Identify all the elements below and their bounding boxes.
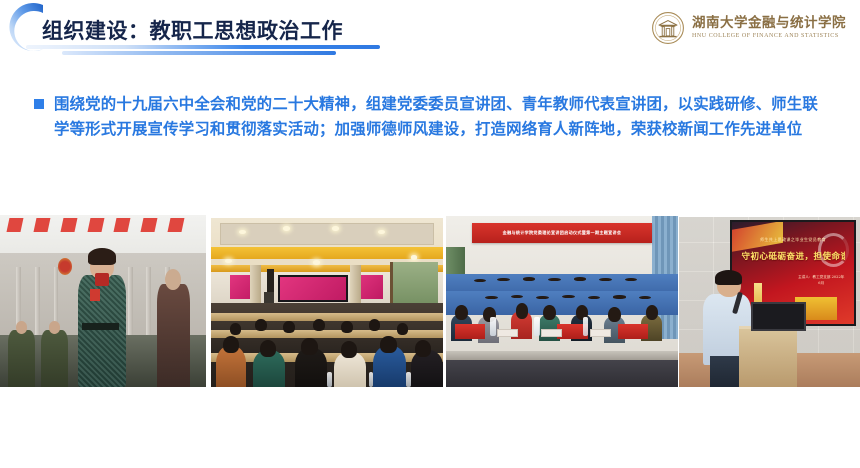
yuelu-academy-gate-seal-icon [651,11,685,45]
title-underline-primary [26,45,380,49]
screen-headline: 守初心砥砺奋进，担使命谱写新篇 [741,250,844,262]
institution-logo: 湖南大学金融与统计学院 HNU COLLEGE OF FINANCE AND S… [651,11,846,45]
square-bullet-icon [34,99,44,109]
photo-lecture-hall-audience [211,218,443,387]
photo-delegate-great-hall [0,215,206,387]
logo-name-cn: 湖南大学金融与统计学院 [692,16,846,32]
event-banner: 金融与统计学院党委理论宣讲团启动仪式暨第一期主题宣讲会 [472,223,653,244]
screen-meta: 主讲人：教工党支部 2022年6月 [798,275,845,286]
page-title: 组织建设：教职工思想政治工作 [42,15,343,45]
bullet-item-text: 围绕党的十九届六中全会和党的二十大精神，组建党委委员宣讲团、青年教师代表宣讲团，… [54,92,824,141]
photo-group-photo-banner: 金融与统计学院党委理论宣讲团启动仪式暨第一期主题宣讲会 [446,216,678,387]
content-body: 围绕党的十九届六中全会和党的二十大精神，组建党委委员宣讲团、青年教师代表宣讲团，… [34,92,824,141]
logo-name-en: HNU COLLEGE OF FINANCE AND STATISTICS [692,32,846,40]
screen-subtitle: 师生共上思政课之毕业生党员教育 [749,237,837,243]
slide-header: 组织建设：教职工思想政治工作 湖南大学金融与统计学院 HNU COLLEGE O… [0,0,860,62]
bullet-item: 围绕党的十九届六中全会和党的二十大精神，组建党委委员宣讲团、青年教师代表宣讲团，… [34,92,824,141]
event-banner-text: 金融与统计学院党委理论宣讲团启动仪式暨第一期主题宣讲会 [472,223,653,244]
title-underline-secondary [62,51,336,55]
photo-speaker-podium: 师生共上思政课之毕业生党员教育 守初心砥砺奋进，担使命谱写新篇 主讲人：教工党支… [679,217,860,387]
photo-strip: 金融与统计学院党委理论宣讲团启动仪式暨第一期主题宣讲会 [0,210,860,385]
